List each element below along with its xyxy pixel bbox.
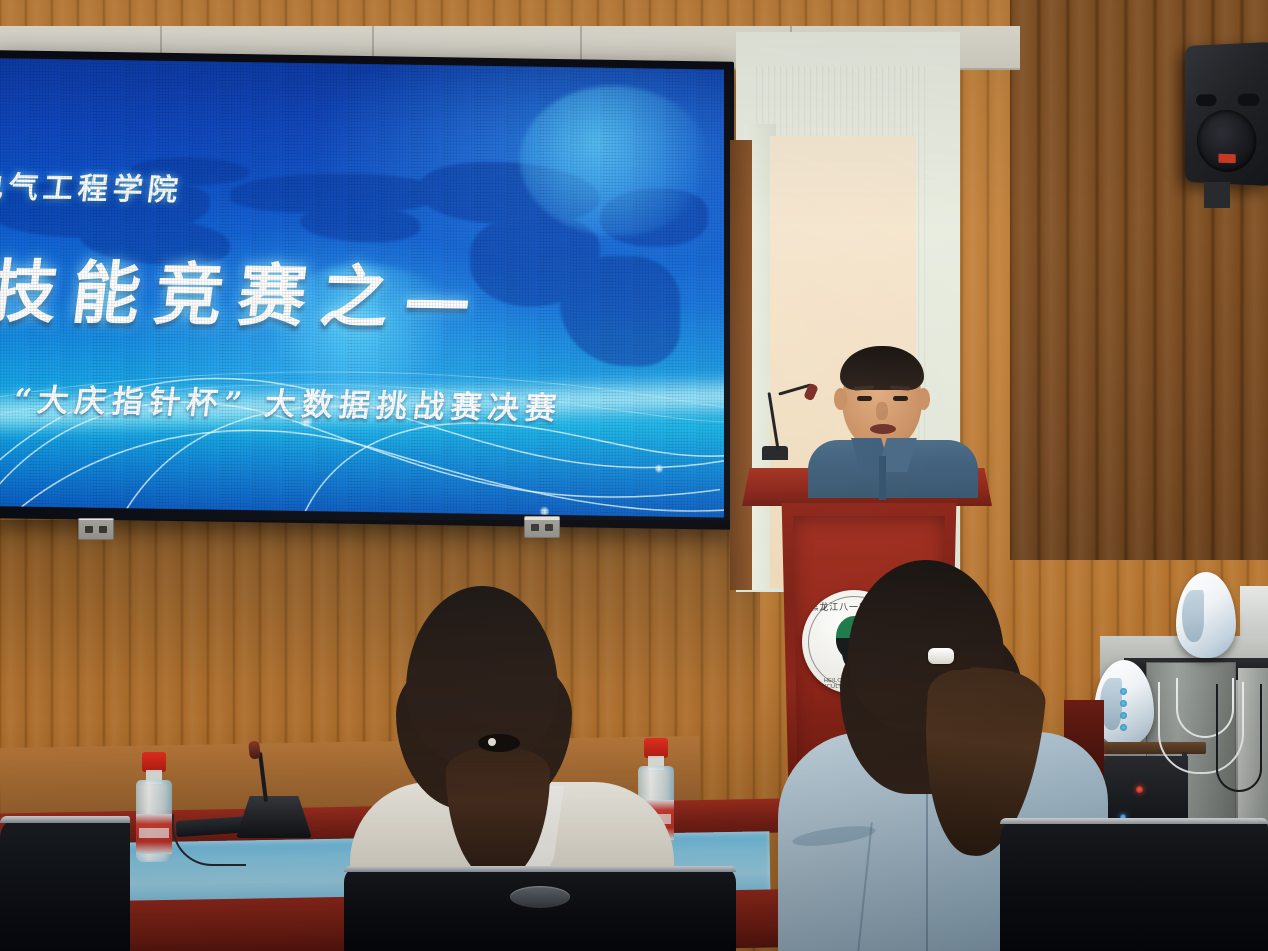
screen-department-line: 电气工程学院 xyxy=(0,162,186,209)
screen-subtitle: “大庆指针杯” 大数据挑战赛决赛 xyxy=(11,375,565,429)
water-bottle-left[interactable] xyxy=(134,752,174,862)
table-microphone-head xyxy=(248,740,261,759)
wall-outlet-right[interactable] xyxy=(524,516,560,538)
bottle-cap-icon xyxy=(142,752,166,772)
chair-far-left[interactable] xyxy=(0,816,130,951)
screen-title: 技能竞赛之— xyxy=(0,236,494,343)
chair-front-right[interactable] xyxy=(1000,818,1268,951)
wall-speaker-jbl xyxy=(1185,42,1268,186)
presenter-hair xyxy=(840,346,924,390)
cable-black-1 xyxy=(1216,684,1262,792)
alcove-door-edge xyxy=(730,140,752,590)
speaker-mount-bracket xyxy=(1204,182,1230,208)
hair-clip-icon xyxy=(928,648,954,664)
screen-organizer-1: 电气工程学院分团委 xyxy=(0,510,207,517)
led-display-screen[interactable]: 电气工程学院 技能竞赛之— “大庆指针杯” 大数据挑战赛决赛 电气工程学院分团委… xyxy=(0,58,724,517)
presenter xyxy=(800,344,980,484)
led-display-bezel: 电气工程学院 技能竞赛之— “大庆指针杯” 大数据挑战赛决赛 电气工程学院分团委… xyxy=(0,50,734,530)
podium-mic-base xyxy=(762,446,788,460)
jbl-logo-icon xyxy=(1218,154,1235,164)
lecture-hall-photo: 电气工程学院 技能竞赛之— “大庆指针杯” 大数据挑战赛决赛 电气工程学院分团委… xyxy=(0,0,1268,951)
chair-front-left[interactable] xyxy=(344,866,736,951)
chair-badge-icon xyxy=(510,886,570,908)
wall-outlet-left[interactable] xyxy=(78,518,114,540)
status-led-red xyxy=(1136,786,1143,793)
